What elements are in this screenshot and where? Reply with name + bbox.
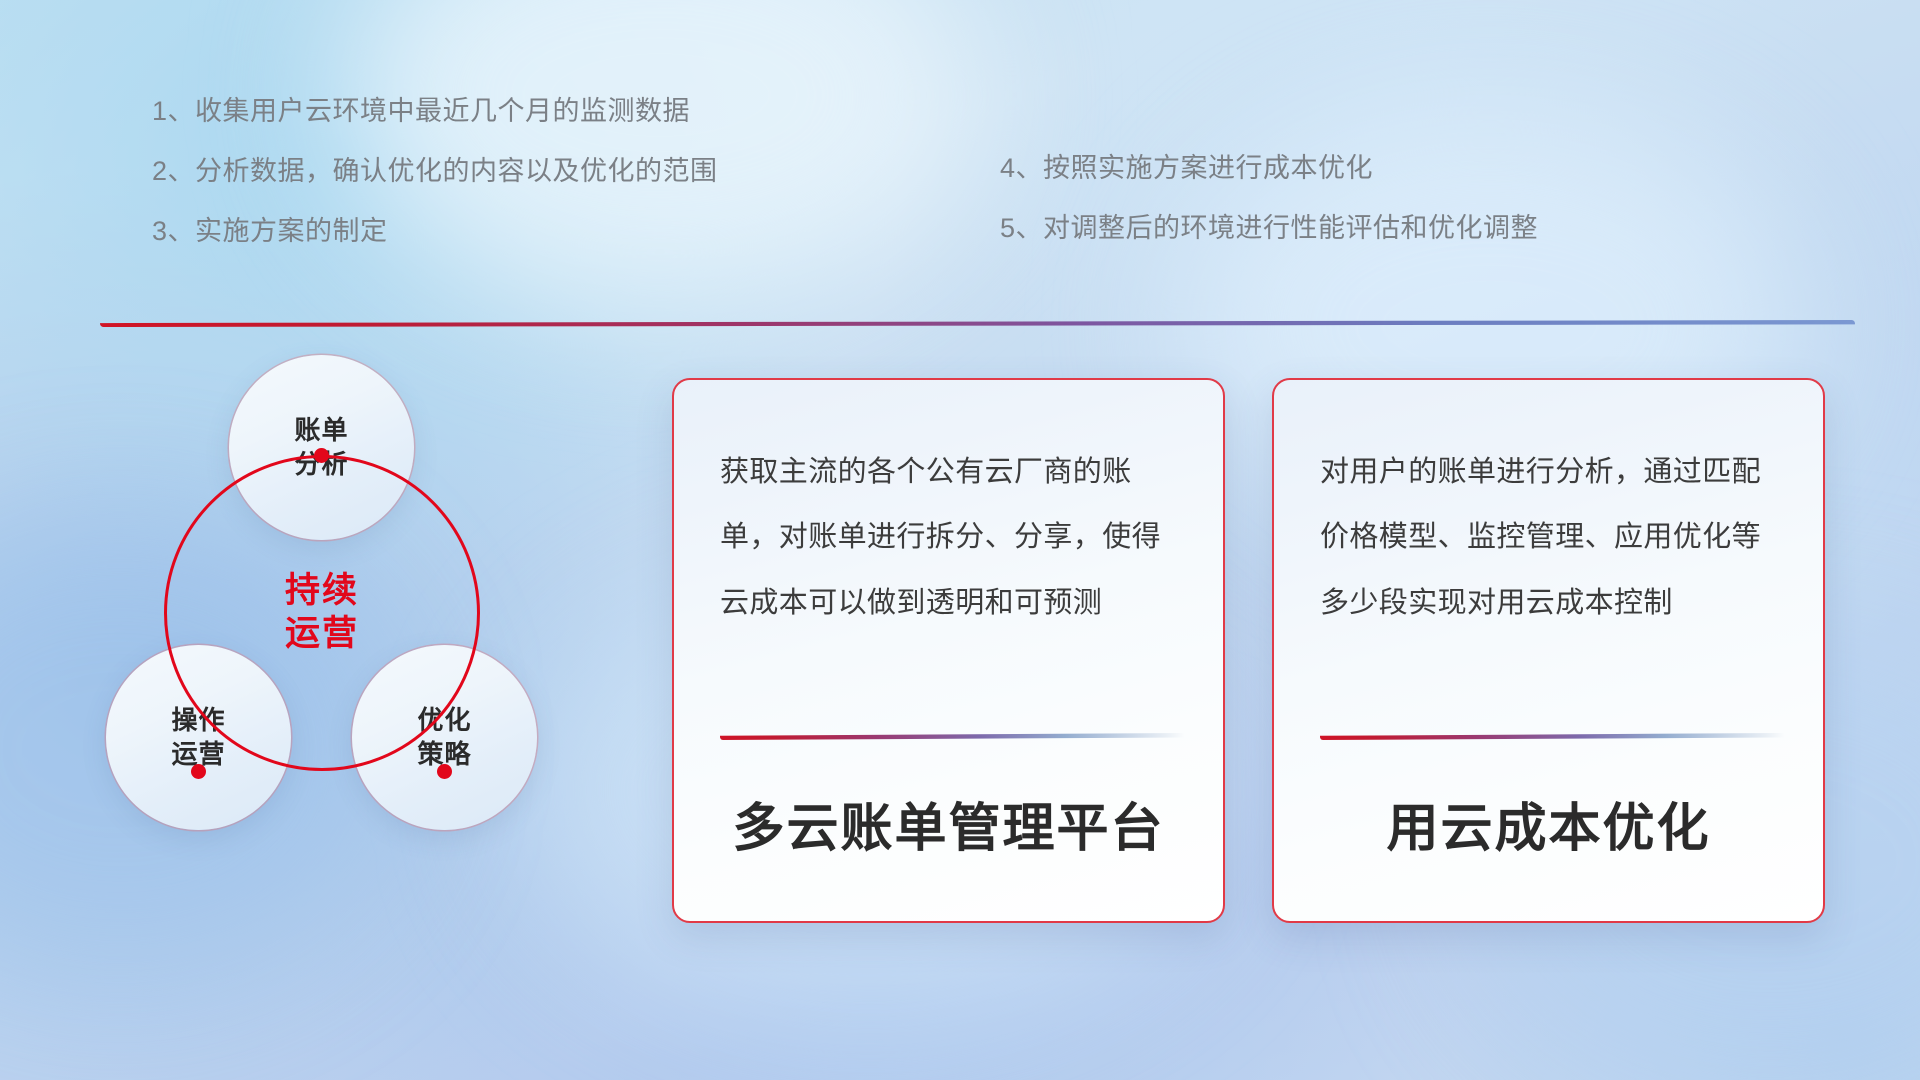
card-title: 用云成本优化 [1274, 786, 1823, 861]
card-body-text: 获取主流的各个公有云厂商的账单，对账单进行拆分、分享，使得云成本可以做到透明和可… [674, 380, 1223, 636]
card-body-text: 对用户的账单进行分析，通过匹配价格模型、监控管理、应用优化等多少段实现对用云成本… [1274, 380, 1823, 636]
step-item-3: 3、实施方案的制定 [152, 218, 718, 245]
step-item-2: 2、分析数据，确认优化的内容以及优化的范围 [152, 158, 718, 185]
venn-node-dot-left-icon [191, 764, 206, 779]
venn-node-dot-top-icon [314, 448, 329, 463]
step-item-1: 1、收集用户云环境中最近几个月的监测数据 [152, 98, 718, 125]
venn-center-line-2: 运营 [285, 614, 359, 653]
venn-node-dot-right-icon [437, 764, 452, 779]
venn-bubble-line-1: 账单 [294, 415, 348, 445]
venn-center-line-1: 持续 [285, 571, 359, 610]
card-divider-rule [720, 733, 1185, 740]
card-title: 多云账单管理平台 [674, 786, 1223, 861]
steps-list-right: 4、按照实施方案进行成本优化 5、对调整后的环境进行性能评估和优化调整 [1000, 155, 1538, 242]
card-cloud-cost-optimization[interactable]: 对用户的账单进行分析，通过匹配价格模型、监控管理、应用优化等多少段实现对用云成本… [1272, 378, 1825, 923]
venn-center-label: 持续 运营 [285, 570, 359, 655]
venn-diagram: 账单 分析 操作 运营 优化 策略 持续 运营 [90, 355, 560, 945]
card-divider-rule [1320, 733, 1785, 740]
card-multi-cloud-billing-platform[interactable]: 获取主流的各个公有云厂商的账单，对账单进行拆分、分享，使得云成本可以做到透明和可… [672, 378, 1225, 923]
step-item-5: 5、对调整后的环境进行性能评估和优化调整 [1000, 215, 1538, 242]
venn-center-label-wrap: 持续 运营 [164, 455, 480, 771]
steps-list-left: 1、收集用户云环境中最近几个月的监测数据 2、分析数据，确认优化的内容以及优化的… [152, 98, 718, 245]
header-divider-rule [100, 320, 1855, 327]
step-item-4: 4、按照实施方案进行成本优化 [1000, 155, 1538, 182]
slide-canvas: 1、收集用户云环境中最近几个月的监测数据 2、分析数据，确认优化的内容以及优化的… [0, 0, 1920, 1080]
